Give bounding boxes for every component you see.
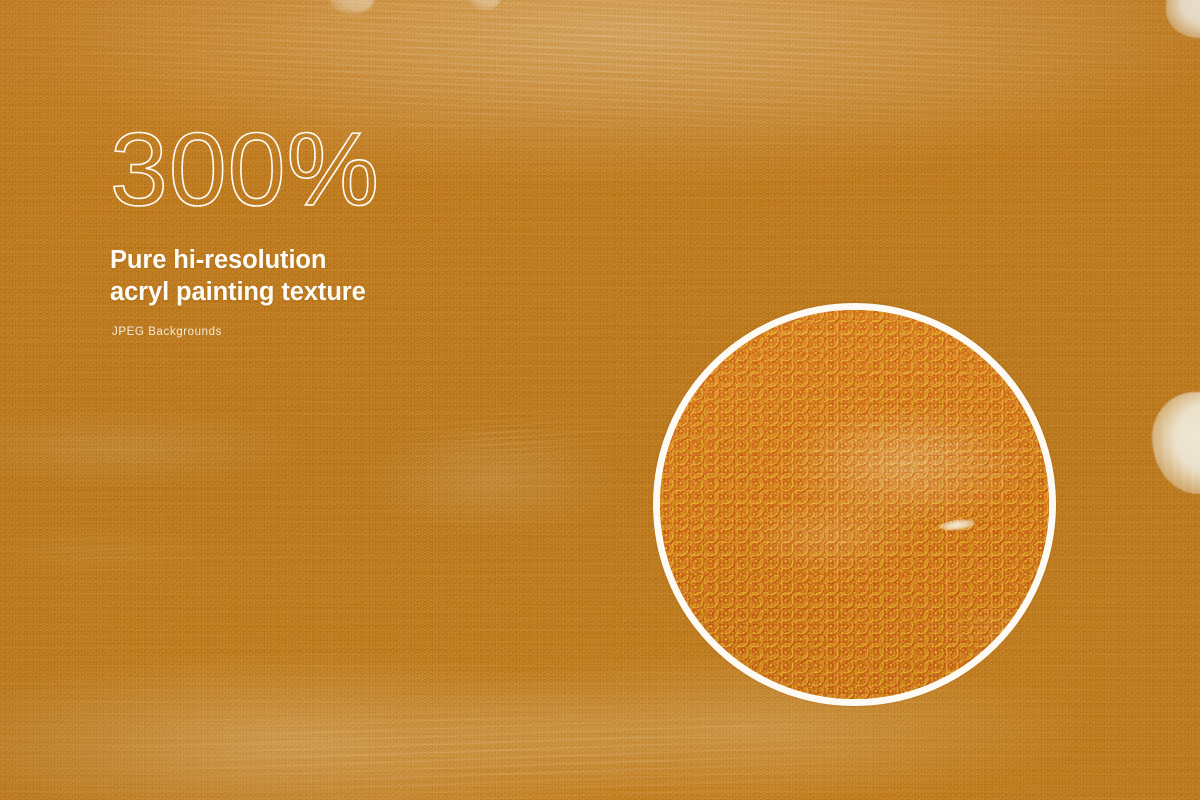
poster-headline: Pure hi-resolution acryl painting textur… — [110, 244, 670, 309]
zoom-percentage-headline: 300% — [110, 118, 670, 222]
poster-headline-line-2: acryl painting texture — [110, 276, 670, 308]
poster-eyebrow-label: JPEG Backgrounds — [112, 326, 670, 338]
zoom-preview-scrape-highlight-2 — [900, 600, 1056, 670]
zoom-preview-scrape-highlight — [790, 400, 1056, 520]
poster-headline-line-1: Pure hi-resolution — [110, 244, 670, 276]
texture-poster: 300% Pure hi-resolution acryl painting t… — [0, 0, 1200, 800]
zoom-preview-circle — [653, 303, 1056, 706]
poster-copy-block: 300% Pure hi-resolution acryl painting t… — [110, 118, 670, 338]
